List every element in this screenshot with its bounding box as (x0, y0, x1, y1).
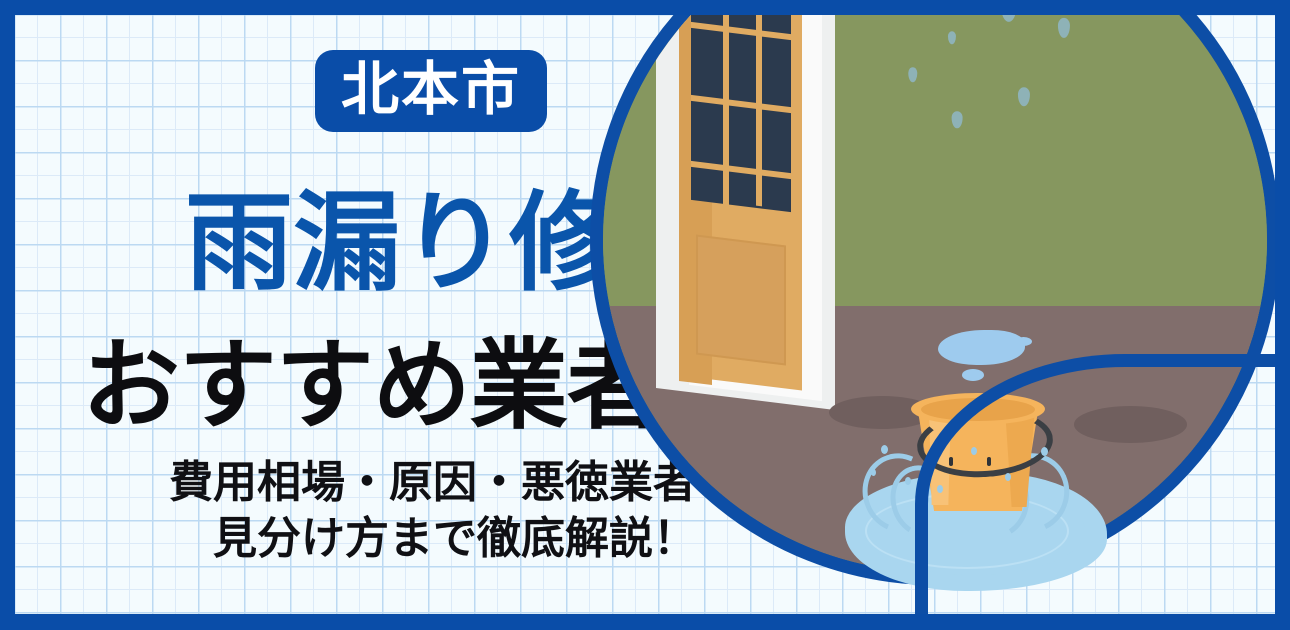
door-mullion-vertical-2 (756, 15, 762, 207)
water-droplet (871, 469, 876, 476)
water-drop-icon (1058, 18, 1070, 38)
water-drop-icon (952, 111, 963, 128)
door-glass-panes (691, 15, 791, 213)
door-lower-panel (696, 234, 786, 365)
water-droplet (881, 445, 888, 454)
grid-paper-background: 北本市 雨漏り修理 おすすめ業者7選 費用相場・原因・悪徳業者の 見分け方まで徹… (15, 15, 1275, 614)
water-droplet (905, 477, 911, 485)
city-badge: 北本市 (315, 50, 547, 132)
banner-canvas: 北本市 雨漏り修理 おすすめ業者7選 費用相場・原因・悪徳業者の 見分け方まで徹… (0, 0, 1290, 630)
door-mullion-vertical-1 (723, 15, 729, 207)
